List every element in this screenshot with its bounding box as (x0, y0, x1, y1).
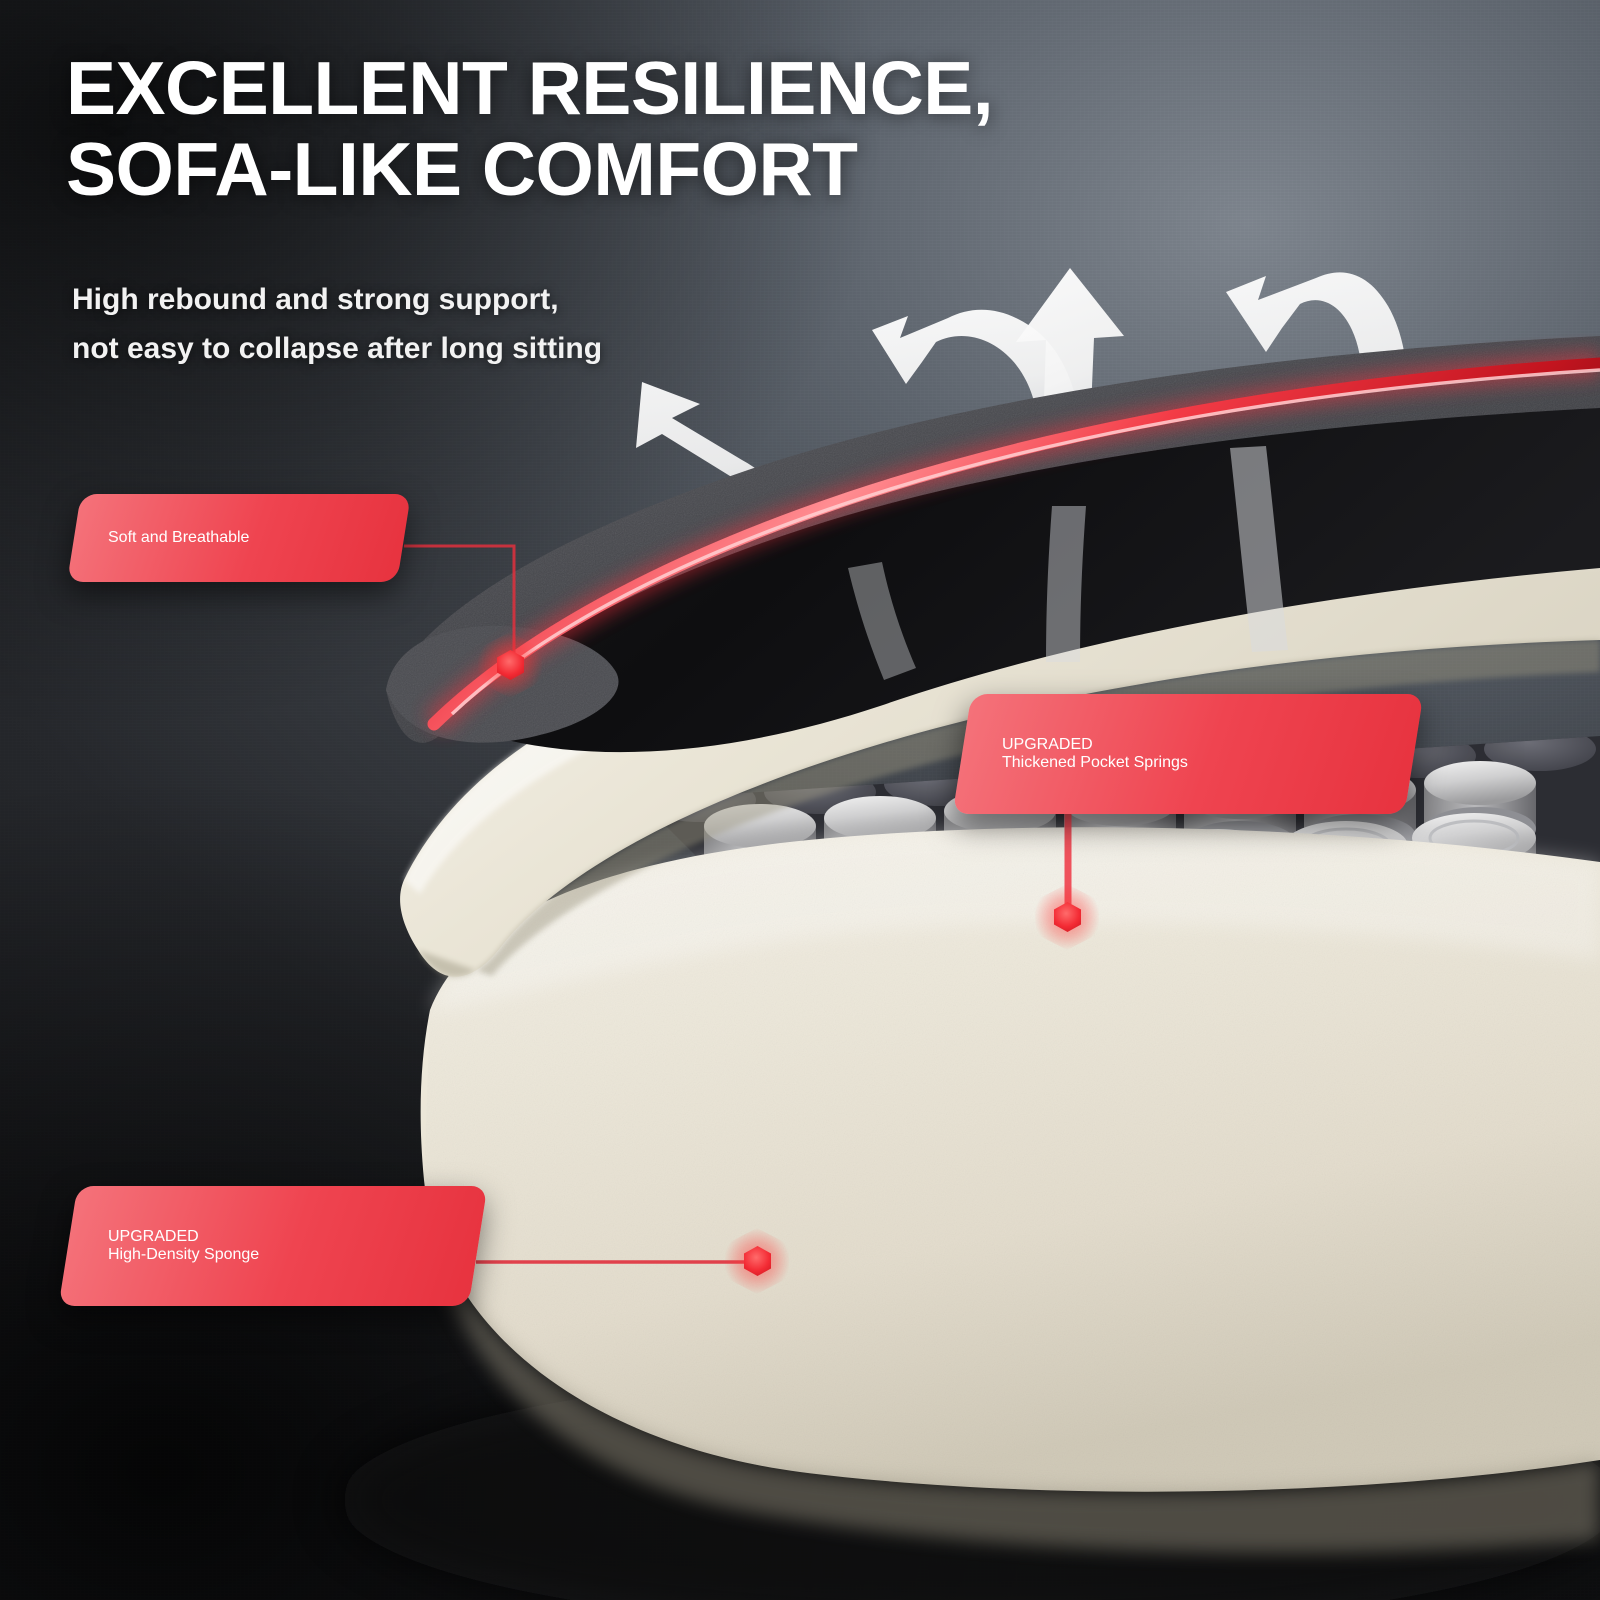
badge-title: UPGRADED (108, 1228, 478, 1246)
product-infographic: EXCELLENT RESILIENCE, SOFA-LIKE COMFORT … (0, 0, 1600, 1600)
hex-marker-icon-pocket-springs (1044, 894, 1090, 940)
badge-title: Soft and Breathable (108, 529, 404, 547)
airflow-arrow-front-2 (1046, 506, 1086, 662)
hex-marker-icon-high-density-sponge (734, 1238, 780, 1284)
subheadline-line-2: not easy to collapse after long sitting (72, 325, 772, 374)
badge-text: Soft and Breathable (74, 494, 404, 582)
badge-subtitle: Thickened Pocket Springs (1002, 754, 1414, 772)
badge-subtitle: High-Density Sponge (108, 1246, 478, 1264)
headline-line-1: EXCELLENT RESILIENCE, (66, 48, 1146, 129)
callout-badge-pocket-springs[interactable]: UPGRADED Thickened Pocket Springs (962, 694, 1414, 814)
badge-text: UPGRADED High-Density Sponge (68, 1186, 478, 1306)
badge-text: UPGRADED Thickened Pocket Springs (962, 694, 1414, 814)
badge-title: UPGRADED (1002, 736, 1414, 754)
subheadline-line-1: High rebound and strong support, (72, 276, 772, 325)
callout-badge-soft-and-breathable[interactable]: Soft and Breathable (74, 494, 404, 582)
headline: EXCELLENT RESILIENCE, SOFA-LIKE COMFORT (66, 48, 1146, 210)
hex-marker-icon-soft-and-breathable (487, 642, 533, 688)
headline-line-2: SOFA-LIKE COMFORT (66, 129, 1146, 210)
subheadline: High rebound and strong support, not eas… (72, 276, 772, 373)
callout-badge-high-density-sponge[interactable]: UPGRADED High-Density Sponge (68, 1186, 478, 1306)
sponge-base-grain (424, 827, 1600, 1491)
